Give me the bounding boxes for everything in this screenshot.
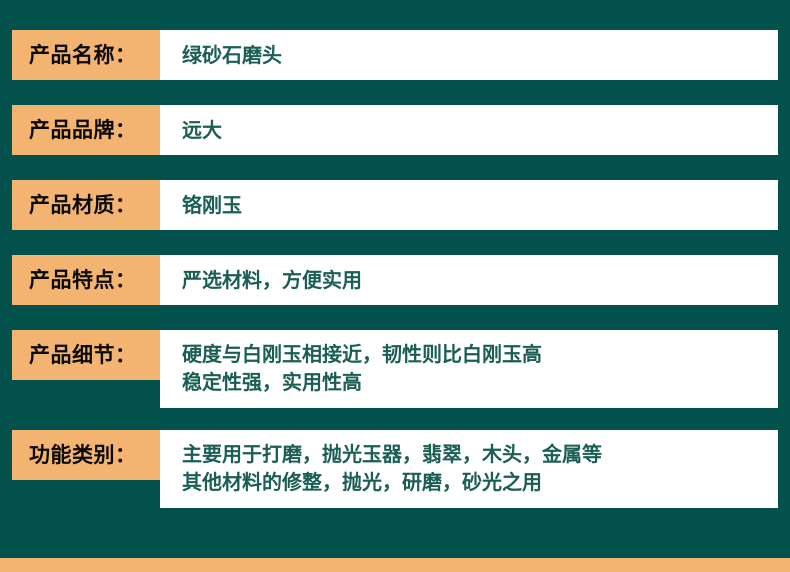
spec-value-product-material: 铬刚玉: [160, 180, 778, 230]
spec-value-product-details: 硬度与白刚玉相接近，韧性则比白刚玉高 稳定性强，实用性高: [160, 330, 778, 408]
spec-value-function-category: 主要用于打磨，抛光玉器，翡翠，木头，金属等 其他材料的修整，抛光，研磨，砂光之用: [160, 430, 778, 508]
spec-label-product-name: 产品名称：: [12, 30, 160, 80]
spec-row: 功能类别： 主要用于打磨，抛光玉器，翡翠，木头，金属等 其他材料的修整，抛光，研…: [12, 430, 778, 508]
spec-row: 产品特点： 严选材料，方便实用: [12, 255, 778, 305]
spec-row: 产品材质： 铬刚玉: [12, 180, 778, 230]
spec-label-product-details: 产品细节：: [12, 330, 160, 380]
spec-row: 产品名称： 绿砂石磨头: [12, 30, 778, 80]
bottom-accent-bar: [0, 558, 790, 572]
spec-value-line: 严选材料，方便实用: [182, 270, 778, 290]
spec-row: 产品细节： 硬度与白刚玉相接近，韧性则比白刚玉高 稳定性强，实用性高: [12, 330, 778, 408]
spec-value-product-features: 严选材料，方便实用: [160, 255, 778, 305]
spec-value-line: 铬刚玉: [182, 195, 778, 215]
spec-value-product-name: 绿砂石磨头: [160, 30, 778, 80]
spec-value-line: 绿砂石磨头: [182, 45, 778, 65]
spec-row: 产品品牌： 远大: [12, 105, 778, 155]
spec-value-line: 其他材料的修整，抛光，研磨，砂光之用: [182, 468, 778, 496]
product-spec-sheet: 产品名称： 绿砂石磨头 产品品牌： 远大 产品材质： 铬刚玉 产品特点： 严选材…: [0, 0, 790, 572]
spec-label-function-category: 功能类别：: [12, 430, 160, 480]
spec-value-product-brand: 远大: [160, 105, 778, 155]
spec-label-product-features: 产品特点：: [12, 255, 160, 305]
spec-label-product-brand: 产品品牌：: [12, 105, 160, 155]
spec-value-line: 主要用于打磨，抛光玉器，翡翠，木头，金属等: [182, 440, 778, 468]
spec-value-line: 硬度与白刚玉相接近，韧性则比白刚玉高: [182, 340, 778, 368]
spec-value-line: 稳定性强，实用性高: [182, 368, 778, 396]
spec-label-product-material: 产品材质：: [12, 180, 160, 230]
spec-value-line: 远大: [182, 120, 778, 140]
